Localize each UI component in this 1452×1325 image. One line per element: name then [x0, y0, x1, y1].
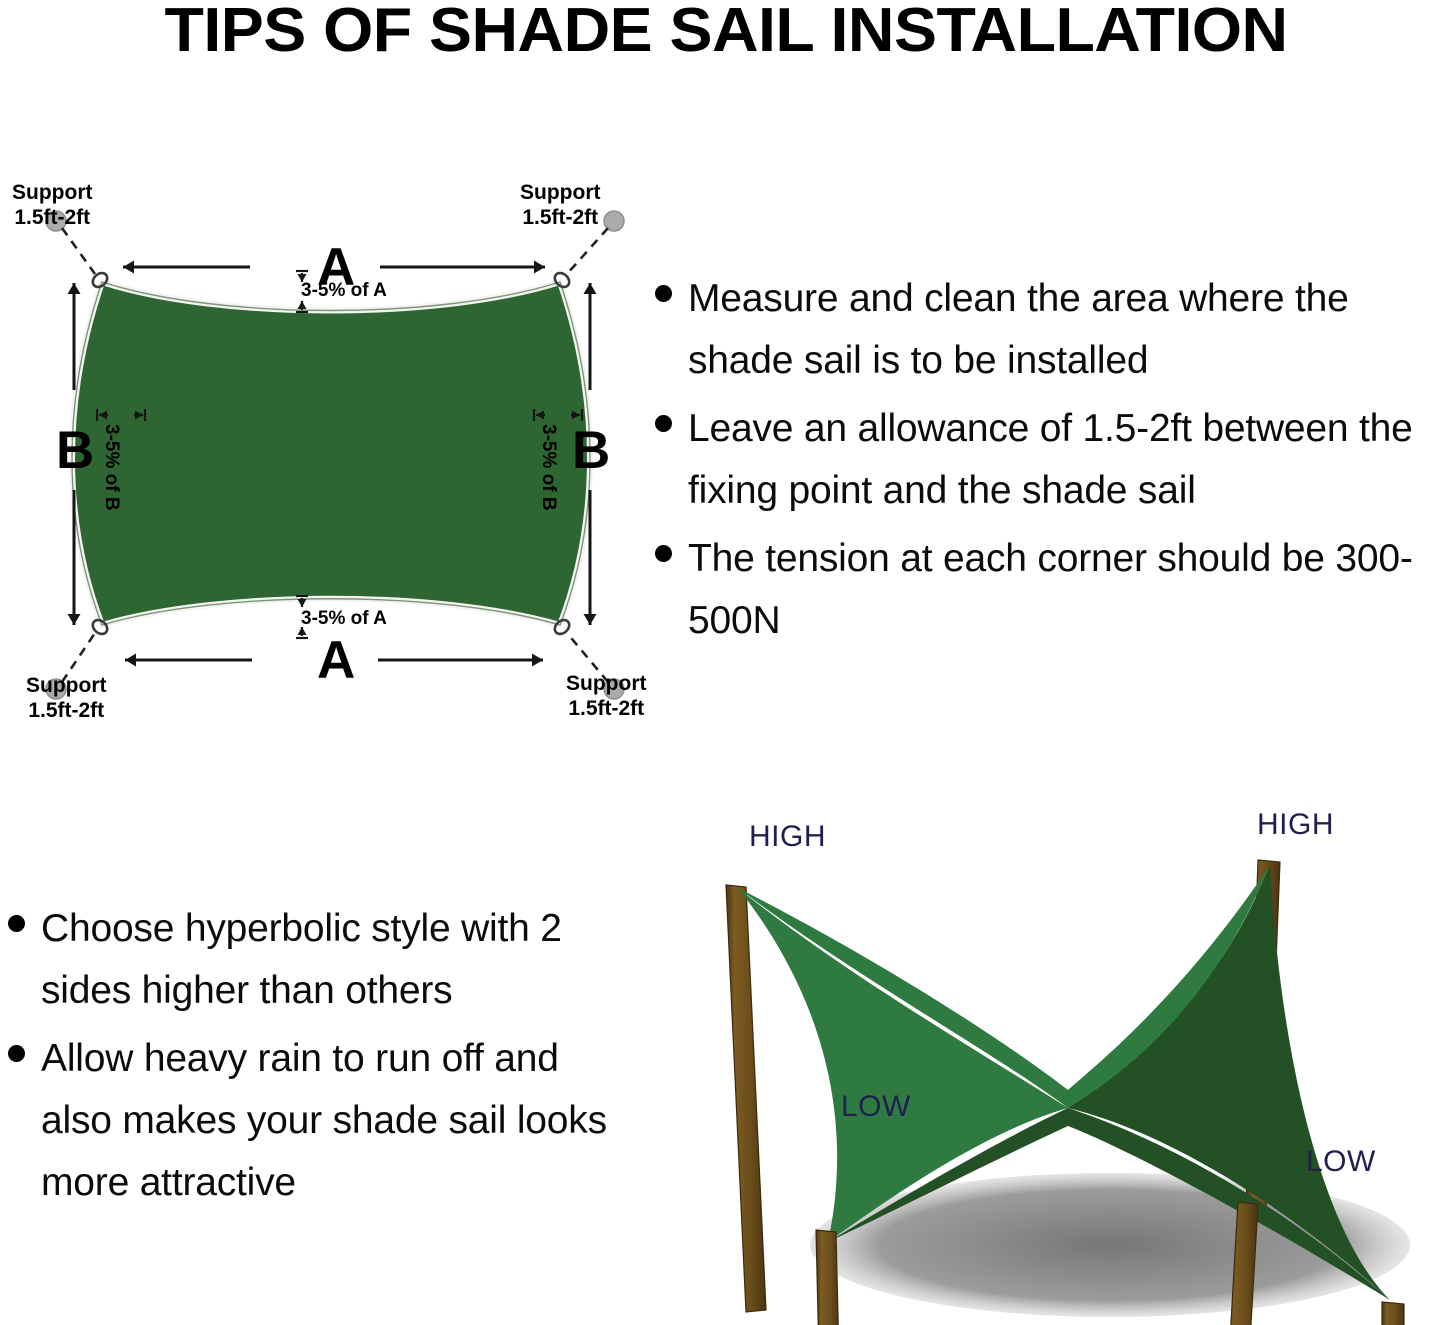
infographic-page: TIPS OF SHADE SAIL INSTALLATION	[0, 0, 1452, 1325]
support-label-line2: 1.5ft-2ft	[566, 696, 646, 721]
bullet-dot-icon	[8, 1045, 25, 1062]
bullet-dot-icon	[8, 915, 25, 932]
support-label-line2: 1.5ft-2ft	[12, 205, 92, 230]
bullet-dot-icon	[655, 545, 672, 562]
list-item-text: The tension at each corner should be 300…	[688, 528, 1448, 652]
bullet-dot-icon	[655, 285, 672, 302]
bullet-dot-icon	[655, 415, 672, 432]
list-item: The tension at each corner should be 300…	[655, 528, 1452, 652]
curvature-note-bottom: 3-5% of A	[301, 608, 387, 630]
support-label-line1: Support	[26, 673, 106, 698]
support-label-bottom-right: Support 1.5ft-2ft	[566, 671, 646, 721]
support-label-line2: 1.5ft-2ft	[520, 205, 600, 230]
post-low-left	[816, 1230, 840, 1325]
post-low-right	[1382, 1302, 1404, 1325]
support-label-line1: Support	[566, 671, 646, 696]
label-low-left: LOW	[841, 1090, 911, 1124]
list-item: Choose hyperbolic style with 2 sides hig…	[8, 898, 638, 1022]
hyperbolic-sail-diagram	[660, 790, 1452, 1325]
curvature-note-right: 3-5% of B	[537, 424, 559, 511]
curvature-note-top: 3-5% of A	[301, 280, 387, 302]
page-title: TIPS OF SHADE SAIL INSTALLATION	[0, 0, 1452, 64]
support-label-bottom-left: Support 1.5ft-2ft	[26, 673, 106, 723]
list-item: Leave an allowance of 1.5-2ft between th…	[655, 398, 1452, 522]
tips-list-right: Measure and clean the area where the sha…	[655, 268, 1452, 658]
label-high-right: HIGH	[1257, 808, 1334, 842]
list-item: Measure and clean the area where the sha…	[655, 268, 1452, 392]
post-high-left	[726, 885, 766, 1312]
curvature-note-left: 3-5% of B	[100, 424, 122, 511]
support-label-line1: Support	[12, 180, 92, 205]
dimension-label-a-bottom: A	[317, 634, 355, 687]
support-label-top-left: Support 1.5ft-2ft	[12, 180, 92, 230]
list-item-text: Choose hyperbolic style with 2 sides hig…	[41, 898, 621, 1022]
support-label-top-right: Support 1.5ft-2ft	[520, 180, 600, 230]
dimension-label-b-left: B	[56, 424, 94, 477]
list-item-text: Measure and clean the area where the sha…	[688, 268, 1448, 392]
list-item-text: Leave an allowance of 1.5-2ft between th…	[688, 398, 1448, 522]
list-item-text: Allow heavy rain to run off and also mak…	[41, 1028, 621, 1214]
support-label-line1: Support	[520, 180, 600, 205]
support-label-line2: 1.5ft-2ft	[26, 698, 106, 723]
sail-fabric	[72, 282, 590, 625]
list-item: Allow heavy rain to run off and also mak…	[8, 1028, 638, 1214]
label-high-left: HIGH	[749, 820, 826, 854]
dimension-label-b-right: B	[572, 424, 610, 477]
label-low-right: LOW	[1306, 1145, 1376, 1179]
tips-list-left: Choose hyperbolic style with 2 sides hig…	[8, 898, 638, 1220]
